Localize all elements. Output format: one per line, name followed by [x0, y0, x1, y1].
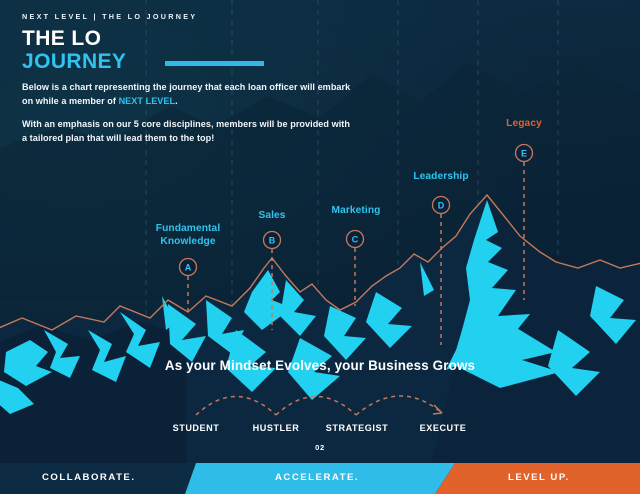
intro-paragraph-1-text-b: . — [175, 96, 178, 106]
stage-label-strategist: STRATEGIST — [315, 423, 399, 433]
stage-arc-2 — [276, 397, 356, 416]
footer-label-accelerate: ACCELERATE. — [275, 472, 359, 483]
intro-paragraph-1: Below is a chart representing the journe… — [22, 80, 352, 108]
stage-arc-1 — [196, 397, 276, 416]
milestone-label-leadership: Leadership — [393, 171, 489, 184]
stage-arc-layer — [0, 0, 640, 494]
footer-label-collaborate: COLLABORATE. — [42, 472, 136, 483]
stage-arc-3 — [356, 396, 442, 415]
milestone-label-fundamental-knowledge: Fundamental Knowledge — [138, 222, 238, 249]
footer-label-levelup: LEVEL UP. — [508, 472, 570, 483]
stage-label-hustler: HUSTLER — [236, 423, 316, 433]
kicker-eyebrow: NEXT LEVEL | THE LO JOURNEY — [22, 12, 197, 21]
milestone-label-marketing: Marketing — [312, 205, 400, 218]
intro-paragraph-2: With an emphasis on our 5 core disciplin… — [22, 117, 352, 145]
milestone-label-sales: Sales — [242, 210, 302, 223]
intro-paragraph-1-text-a: Below is a chart representing the journe… — [22, 82, 350, 106]
brand-highlight: NEXT LEVEL — [119, 96, 176, 106]
stage-arrow-head — [433, 405, 442, 414]
title-underline-rule — [165, 61, 264, 66]
page-number: 02 — [0, 443, 640, 452]
stage-label-execute: EXECUTE — [403, 423, 483, 433]
slide-canvas: A B C D E NEXT LEVEL | THE LO JOURNEY TH… — [0, 0, 640, 494]
stage-label-student: STUDENT — [156, 423, 236, 433]
milestone-label-legacy: Legacy — [482, 118, 566, 131]
page-title-line1: THE LO — [22, 28, 101, 49]
mindset-tagline: As your Mindset Evolves, your Business G… — [0, 358, 640, 373]
page-title-line2: JOURNEY — [22, 51, 126, 72]
